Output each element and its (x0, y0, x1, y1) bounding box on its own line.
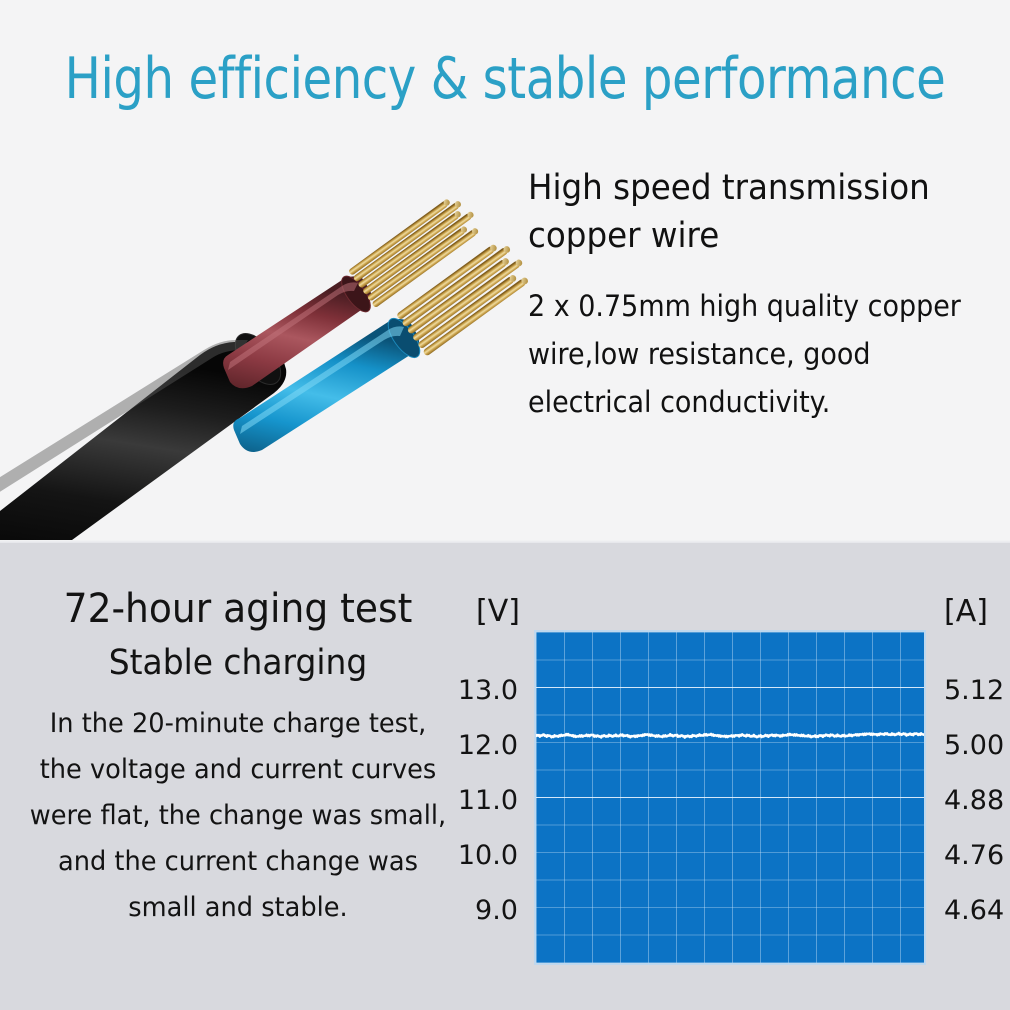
left-tick-12: 12.0 (458, 731, 518, 761)
aging-body-line-3: were flat, the change was small, (29, 793, 447, 839)
aging-body-line-1: In the 20-minute charge test, (29, 701, 447, 747)
right-tick-488: 4.88 (944, 786, 1004, 816)
left-tick-11: 11.0 (458, 786, 518, 816)
infographic-page: High efficiency & stable performance (0, 0, 1010, 1010)
bottom-section: 72-hour aging test Stable charging In th… (0, 543, 1010, 1010)
copy-heading-line-1: High speed transmission (528, 164, 1008, 212)
copy-heading-line-2: copper wire (528, 212, 1008, 260)
cable-svg (0, 150, 530, 550)
top-section: High efficiency & stable performance (0, 0, 1010, 543)
aging-test-title: 72-hour aging test (31, 585, 445, 633)
right-tick-500: 5.00 (944, 731, 1004, 761)
aging-body-line-4: and the current change was (29, 839, 447, 885)
left-axis-unit-label: [V] (476, 595, 520, 629)
right-tick-464: 4.64 (944, 896, 1004, 926)
page-title: High efficiency & stable performance (30, 46, 979, 112)
copy-body: 2 x 0.75mm high quality copper wire,low … (528, 282, 1008, 426)
cable-illustration (0, 150, 530, 550)
voltage-trace (536, 632, 924, 963)
copy-body-line-3: electrical conductivity. (528, 378, 1008, 426)
left-tick-9: 9.0 (475, 896, 518, 926)
aging-test-copy-block: 72-hour aging test Stable charging In th… (18, 585, 458, 931)
aging-test-subtitle: Stable charging (31, 639, 445, 687)
right-axis-unit-label: [A] (944, 595, 988, 629)
chart-plot-area (534, 630, 926, 965)
aging-body-line-2: the voltage and current curves (29, 747, 447, 793)
right-tick-476: 4.76 (944, 841, 1004, 871)
left-tick-13: 13.0 (458, 676, 518, 706)
copy-body-line-1: 2 x 0.75mm high quality copper (528, 282, 1008, 330)
copy-heading: High speed transmission copper wire (528, 164, 1008, 260)
left-tick-10: 10.0 (458, 841, 518, 871)
aging-body-line-5: small and stable. (29, 885, 447, 931)
top-copy-block: High speed transmission copper wire 2 x … (528, 164, 1006, 426)
right-tick-512: 5.12 (944, 676, 1004, 706)
copy-body-line-2: wire,low resistance, good (528, 330, 1008, 378)
voltage-current-chart: [V] [A] 13.0 12.0 11.0 10.0 9.0 5.12 5.0… (462, 583, 1010, 1010)
aging-test-body: In the 20-minute charge test, the voltag… (29, 701, 447, 931)
